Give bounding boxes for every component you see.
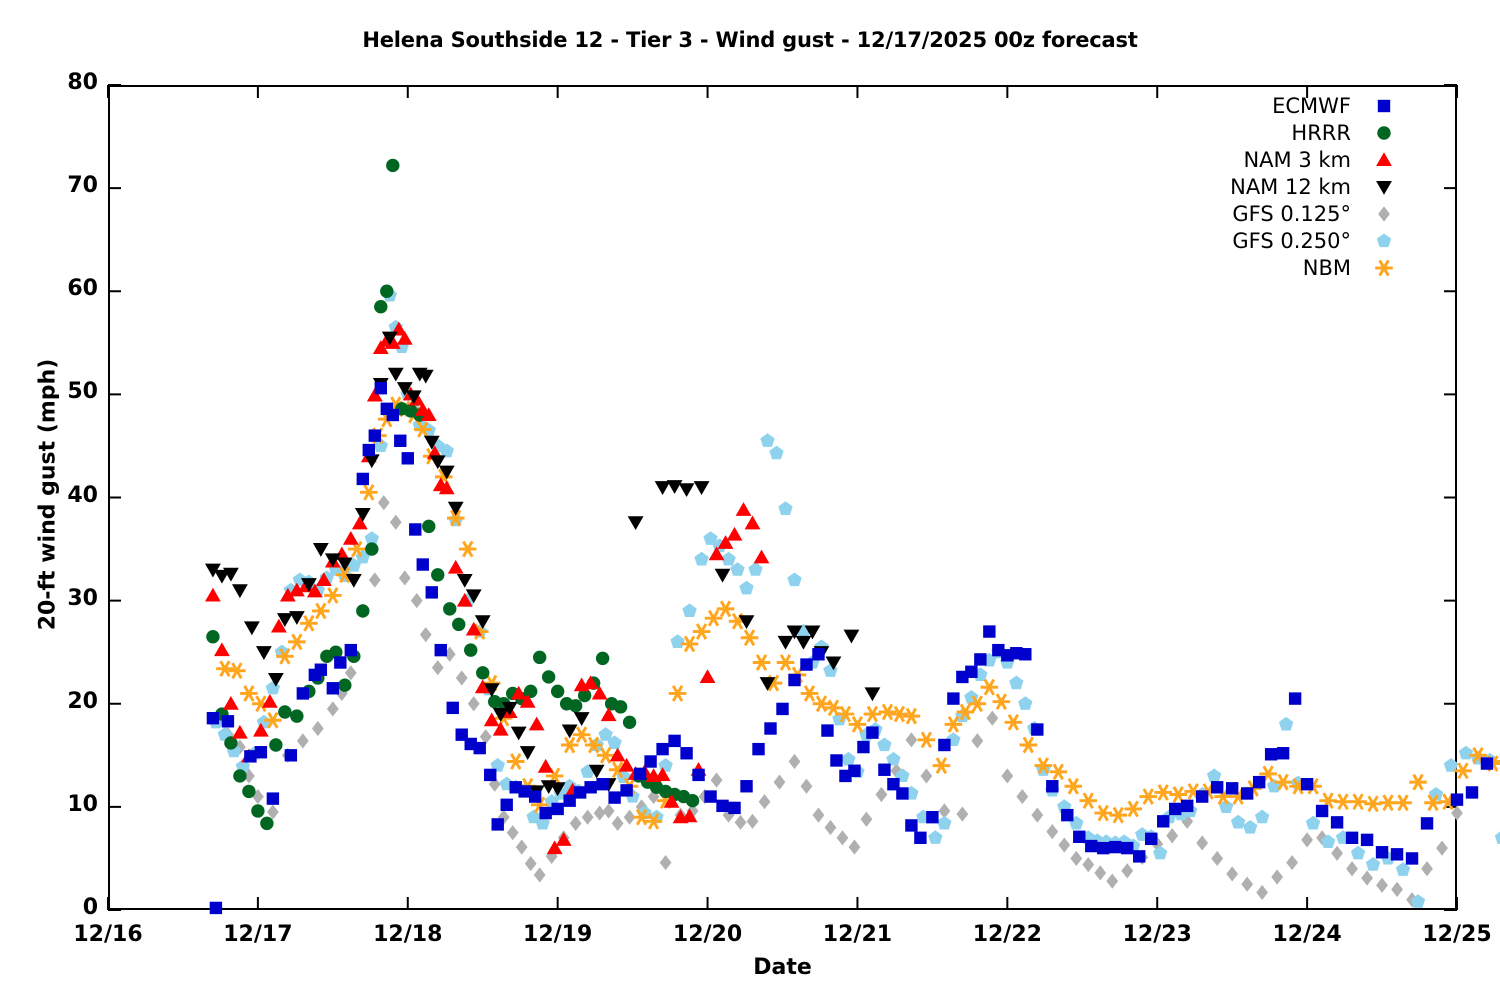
legend-label: NBM	[1303, 256, 1373, 280]
red-triangle-up-marker	[1373, 149, 1395, 171]
data-point	[1483, 753, 1497, 767]
legend-item-gfs-0-125[interactable]: GFS 0.125°	[1180, 200, 1395, 227]
legend-label: GFS 0.250°	[1232, 229, 1373, 253]
data-point	[1496, 754, 1500, 769]
data-point	[1495, 830, 1500, 844]
data-point	[1469, 748, 1487, 763]
x-axis-tick: 12/24	[1237, 922, 1377, 947]
data-point	[1466, 786, 1478, 798]
y-axis-label-wrap: 20-ft wind gust (mph)	[14, 85, 54, 910]
lightblue-pentagon-marker	[1373, 230, 1395, 252]
legend-item-nbm[interactable]: NBM	[1180, 254, 1395, 281]
legend-item-nam-3-km[interactable]: NAM 3 km	[1180, 146, 1395, 173]
x-axis-tick: 12/16	[38, 922, 178, 947]
legend-item-gfs-0-250[interactable]: GFS 0.250°	[1180, 227, 1395, 254]
green-circle-marker	[1373, 122, 1395, 144]
blue-square-marker	[1373, 95, 1395, 117]
x-axis-tick: 12/20	[638, 922, 778, 947]
x-axis-tick: 12/17	[188, 922, 328, 947]
x-axis-tick: 12/18	[338, 922, 478, 947]
legend-label: NAM 12 km	[1230, 175, 1373, 199]
data-point	[1459, 746, 1473, 760]
legend-label: HRRR	[1291, 121, 1373, 145]
black-triangle-down-marker	[1373, 176, 1395, 198]
legend-label: GFS 0.125°	[1232, 202, 1373, 226]
gray-diamond-marker	[1373, 203, 1395, 225]
x-axis-tick: 12/21	[787, 922, 927, 947]
x-axis-label: Date	[108, 955, 1457, 980]
legend-item-ecmwf[interactable]: ECMWF	[1180, 92, 1395, 119]
x-axis-tick: 12/22	[937, 922, 1077, 947]
legend: ECMWFHRRRNAM 3 kmNAM 12 kmGFS 0.125°GFS …	[1180, 92, 1395, 281]
x-axis-tick: 12/19	[488, 922, 628, 947]
page-title: Helena Southside 12 - Tier 3 - Wind gust…	[0, 28, 1500, 52]
legend-label: NAM 3 km	[1243, 148, 1373, 172]
data-point	[1471, 751, 1485, 765]
x-axis-tick: 12/23	[1087, 922, 1227, 947]
x-axis-tick: 12/25	[1387, 922, 1500, 947]
y-axis-label: 20-ft wind gust (mph)	[36, 284, 61, 704]
legend-item-nam-12-km[interactable]: NAM 12 km	[1180, 173, 1395, 200]
data-point	[1481, 757, 1493, 769]
legend-label: ECMWF	[1272, 94, 1373, 118]
legend-item-hrrr[interactable]: HRRR	[1180, 119, 1395, 146]
chart-screenshot: Helena Southside 12 - Tier 3 - Wind gust…	[0, 0, 1500, 1000]
orange-asterisk-marker	[1373, 257, 1395, 279]
data-point	[1484, 756, 1500, 771]
